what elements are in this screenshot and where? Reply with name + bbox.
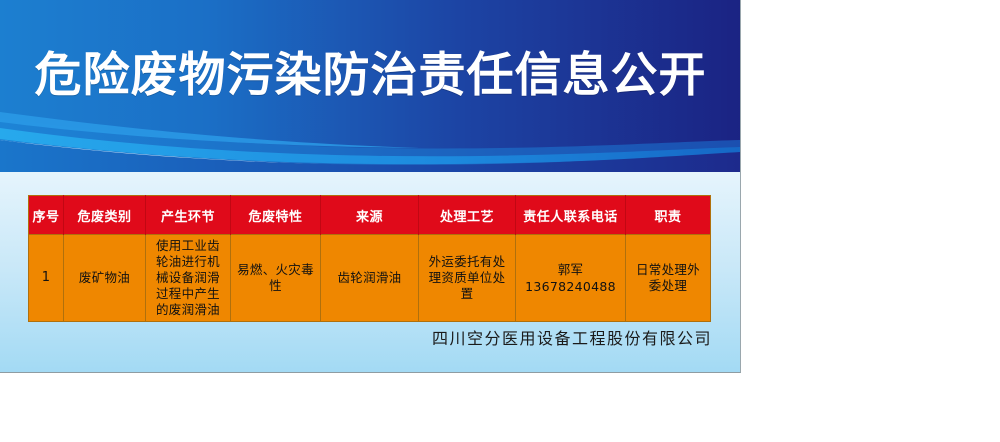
cell-process: 外运委托有处理资质单位处置 (419, 235, 516, 322)
column-header-index: 序号 (29, 196, 64, 235)
column-header-stage: 产生环节 (146, 196, 231, 235)
cell-source: 齿轮润滑油 (321, 235, 419, 322)
poster-canvas: 危险废物污染防治责任信息公开 序号 危废类别 产生环节 危废特性 来源 处理工艺… (0, 0, 741, 373)
column-header-category: 危废类别 (64, 196, 146, 235)
column-header-process: 处理工艺 (419, 196, 516, 235)
company-name: 四川空分医用设备工程股份有限公司 (0, 328, 712, 350)
cell-duty: 日常处理外委处理 (626, 235, 711, 322)
contact-person-phone: 13678240488 (520, 278, 621, 295)
column-header-source: 来源 (321, 196, 419, 235)
column-header-contact-phone: 责任人联系电话 (516, 196, 626, 235)
cell-characteristics: 易燃、火灾毒性 (231, 235, 321, 322)
cell-contact: 郭军 13678240488 (516, 235, 626, 322)
header-banner: 危险废物污染防治责任信息公开 (0, 0, 741, 172)
hazardous-waste-table: 序号 危废类别 产生环节 危废特性 来源 处理工艺 责任人联系电话 职责 1 废… (28, 195, 711, 322)
cell-index: 1 (29, 235, 64, 322)
cell-stage: 使用工业齿轮油进行机械设备润滑过程中产生的废润滑油 (146, 235, 231, 322)
page-title: 危险废物污染防治责任信息公开 (0, 46, 741, 106)
contact-person-name: 郭军 (520, 261, 621, 278)
cell-category: 废矿物油 (64, 235, 146, 322)
column-header-duty: 职责 (626, 196, 711, 235)
column-header-characteristics: 危废特性 (231, 196, 321, 235)
table-header-row: 序号 危废类别 产生环节 危废特性 来源 处理工艺 责任人联系电话 职责 (29, 196, 711, 235)
table-row: 1 废矿物油 使用工业齿轮油进行机械设备润滑过程中产生的废润滑油 易燃、火灾毒性… (29, 235, 711, 322)
